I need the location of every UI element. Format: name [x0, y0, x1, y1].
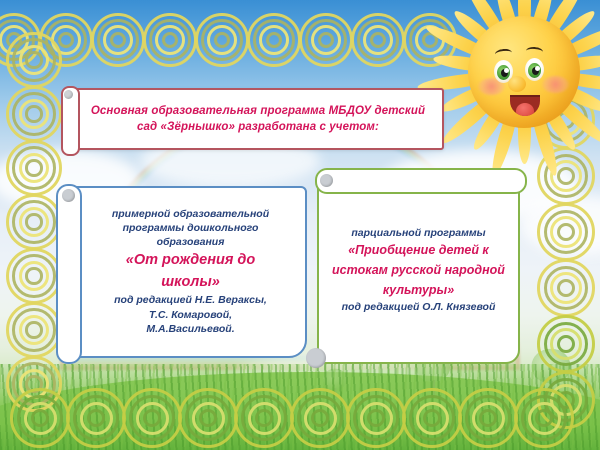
left-program-name-line-1: «От рождения до	[126, 251, 256, 269]
sun-character	[434, 0, 600, 162]
right-intro: парциальной программы	[351, 226, 485, 240]
left-intro-line-2: программы дошкольного	[123, 221, 259, 235]
sun-eye-right	[525, 58, 544, 81]
right-program-name-line-3: культуры»	[383, 282, 454, 298]
left-program-panel: примерной образовательной программы дошк…	[64, 186, 307, 358]
banner-line-1: Основная образовательная программа МБДОУ…	[91, 103, 425, 119]
left-intro-line-1: примерной образовательной	[112, 207, 269, 221]
right-program-name-line-1: «Приобщение детей к	[348, 242, 489, 258]
banner-text: Основная образовательная программа МБДОУ…	[75, 103, 441, 135]
left-editor-line-3: М.А.Васильевой.	[146, 322, 234, 337]
sun-face	[468, 16, 580, 128]
left-intro-line-3: образования	[157, 235, 225, 249]
sun-mouth	[510, 95, 540, 116]
presentation-slide: Основная образовательная программа МБДОУ…	[0, 0, 600, 450]
grass-foreground	[0, 364, 600, 450]
right-editor: под редакцией О.Л. Князевой	[342, 300, 496, 315]
sun-eyebrow-left	[495, 48, 513, 59]
left-program-name-line-2: школы»	[161, 273, 220, 291]
left-editor-line-1: под редакцией Н.Е. Вераксы,	[114, 293, 267, 308]
right-program-name-line-2: истокам русской народной	[332, 262, 505, 278]
sun-eyebrow-right	[526, 46, 544, 56]
left-panel-body: примерной образовательной программы дошк…	[66, 188, 305, 356]
title-banner: Основная образовательная программа МБДОУ…	[72, 88, 444, 150]
sun-nose	[508, 76, 526, 92]
right-program-panel: парциальной программы «Приобщение детей …	[317, 176, 520, 364]
scroll-curl-icon	[61, 86, 80, 156]
sun-tongue	[516, 103, 534, 116]
sun-cheek-right	[542, 76, 569, 93]
right-panel-body: парциальной программы «Приобщение детей …	[319, 178, 518, 362]
left-editor-line-2: Т.С. Комаровой,	[149, 308, 232, 323]
banner-line-2: сад «Зёрнышко» разработана с учетом:	[91, 119, 425, 135]
